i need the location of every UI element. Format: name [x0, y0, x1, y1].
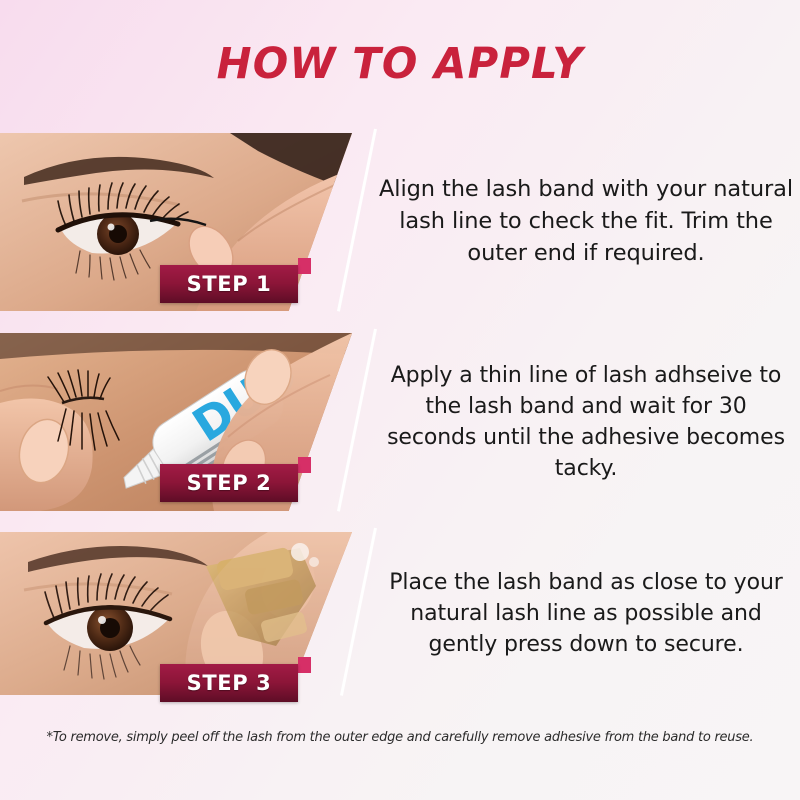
step-3-badge-label: STEP 3: [187, 671, 272, 695]
title-section: HOW TO APPLY: [0, 0, 800, 128]
step-1-badge-tab: [298, 258, 311, 274]
step-2-badge-label: STEP 2: [187, 471, 272, 495]
step-2-instruction: Apply a thin line of lash adhseive to th…: [378, 360, 794, 485]
step-3-badge-tab: [298, 657, 311, 673]
step-2-text-panel: Apply a thin line of lash adhseive to th…: [352, 333, 800, 511]
step-row-1: Align the lash band with your natural la…: [0, 133, 800, 311]
step-2-badge: STEP 2: [160, 464, 298, 502]
removal-footnote: *To remove, simply peel off the lash fro…: [6, 730, 794, 745]
step-2-badge-tab: [298, 457, 311, 473]
page-title: HOW TO APPLY: [216, 43, 583, 86]
step-3-instruction: Place the lash band as close to your nat…: [378, 567, 794, 661]
step-3-badge: STEP 3: [160, 664, 298, 702]
step-1-badge-label: STEP 1: [187, 272, 272, 296]
step-1-instruction: Align the lash band with your natural la…: [378, 174, 794, 270]
how-to-apply-poster: HOW TO APPLY: [0, 0, 800, 800]
step-row-3: Place the lash band as close to your nat…: [0, 532, 800, 695]
step-3-text-panel: Place the lash band as close to your nat…: [352, 532, 800, 695]
step-1-badge: STEP 1: [160, 265, 298, 303]
step-row-2: DUO: [0, 333, 800, 511]
step-1-text-panel: Align the lash band with your natural la…: [352, 133, 800, 311]
